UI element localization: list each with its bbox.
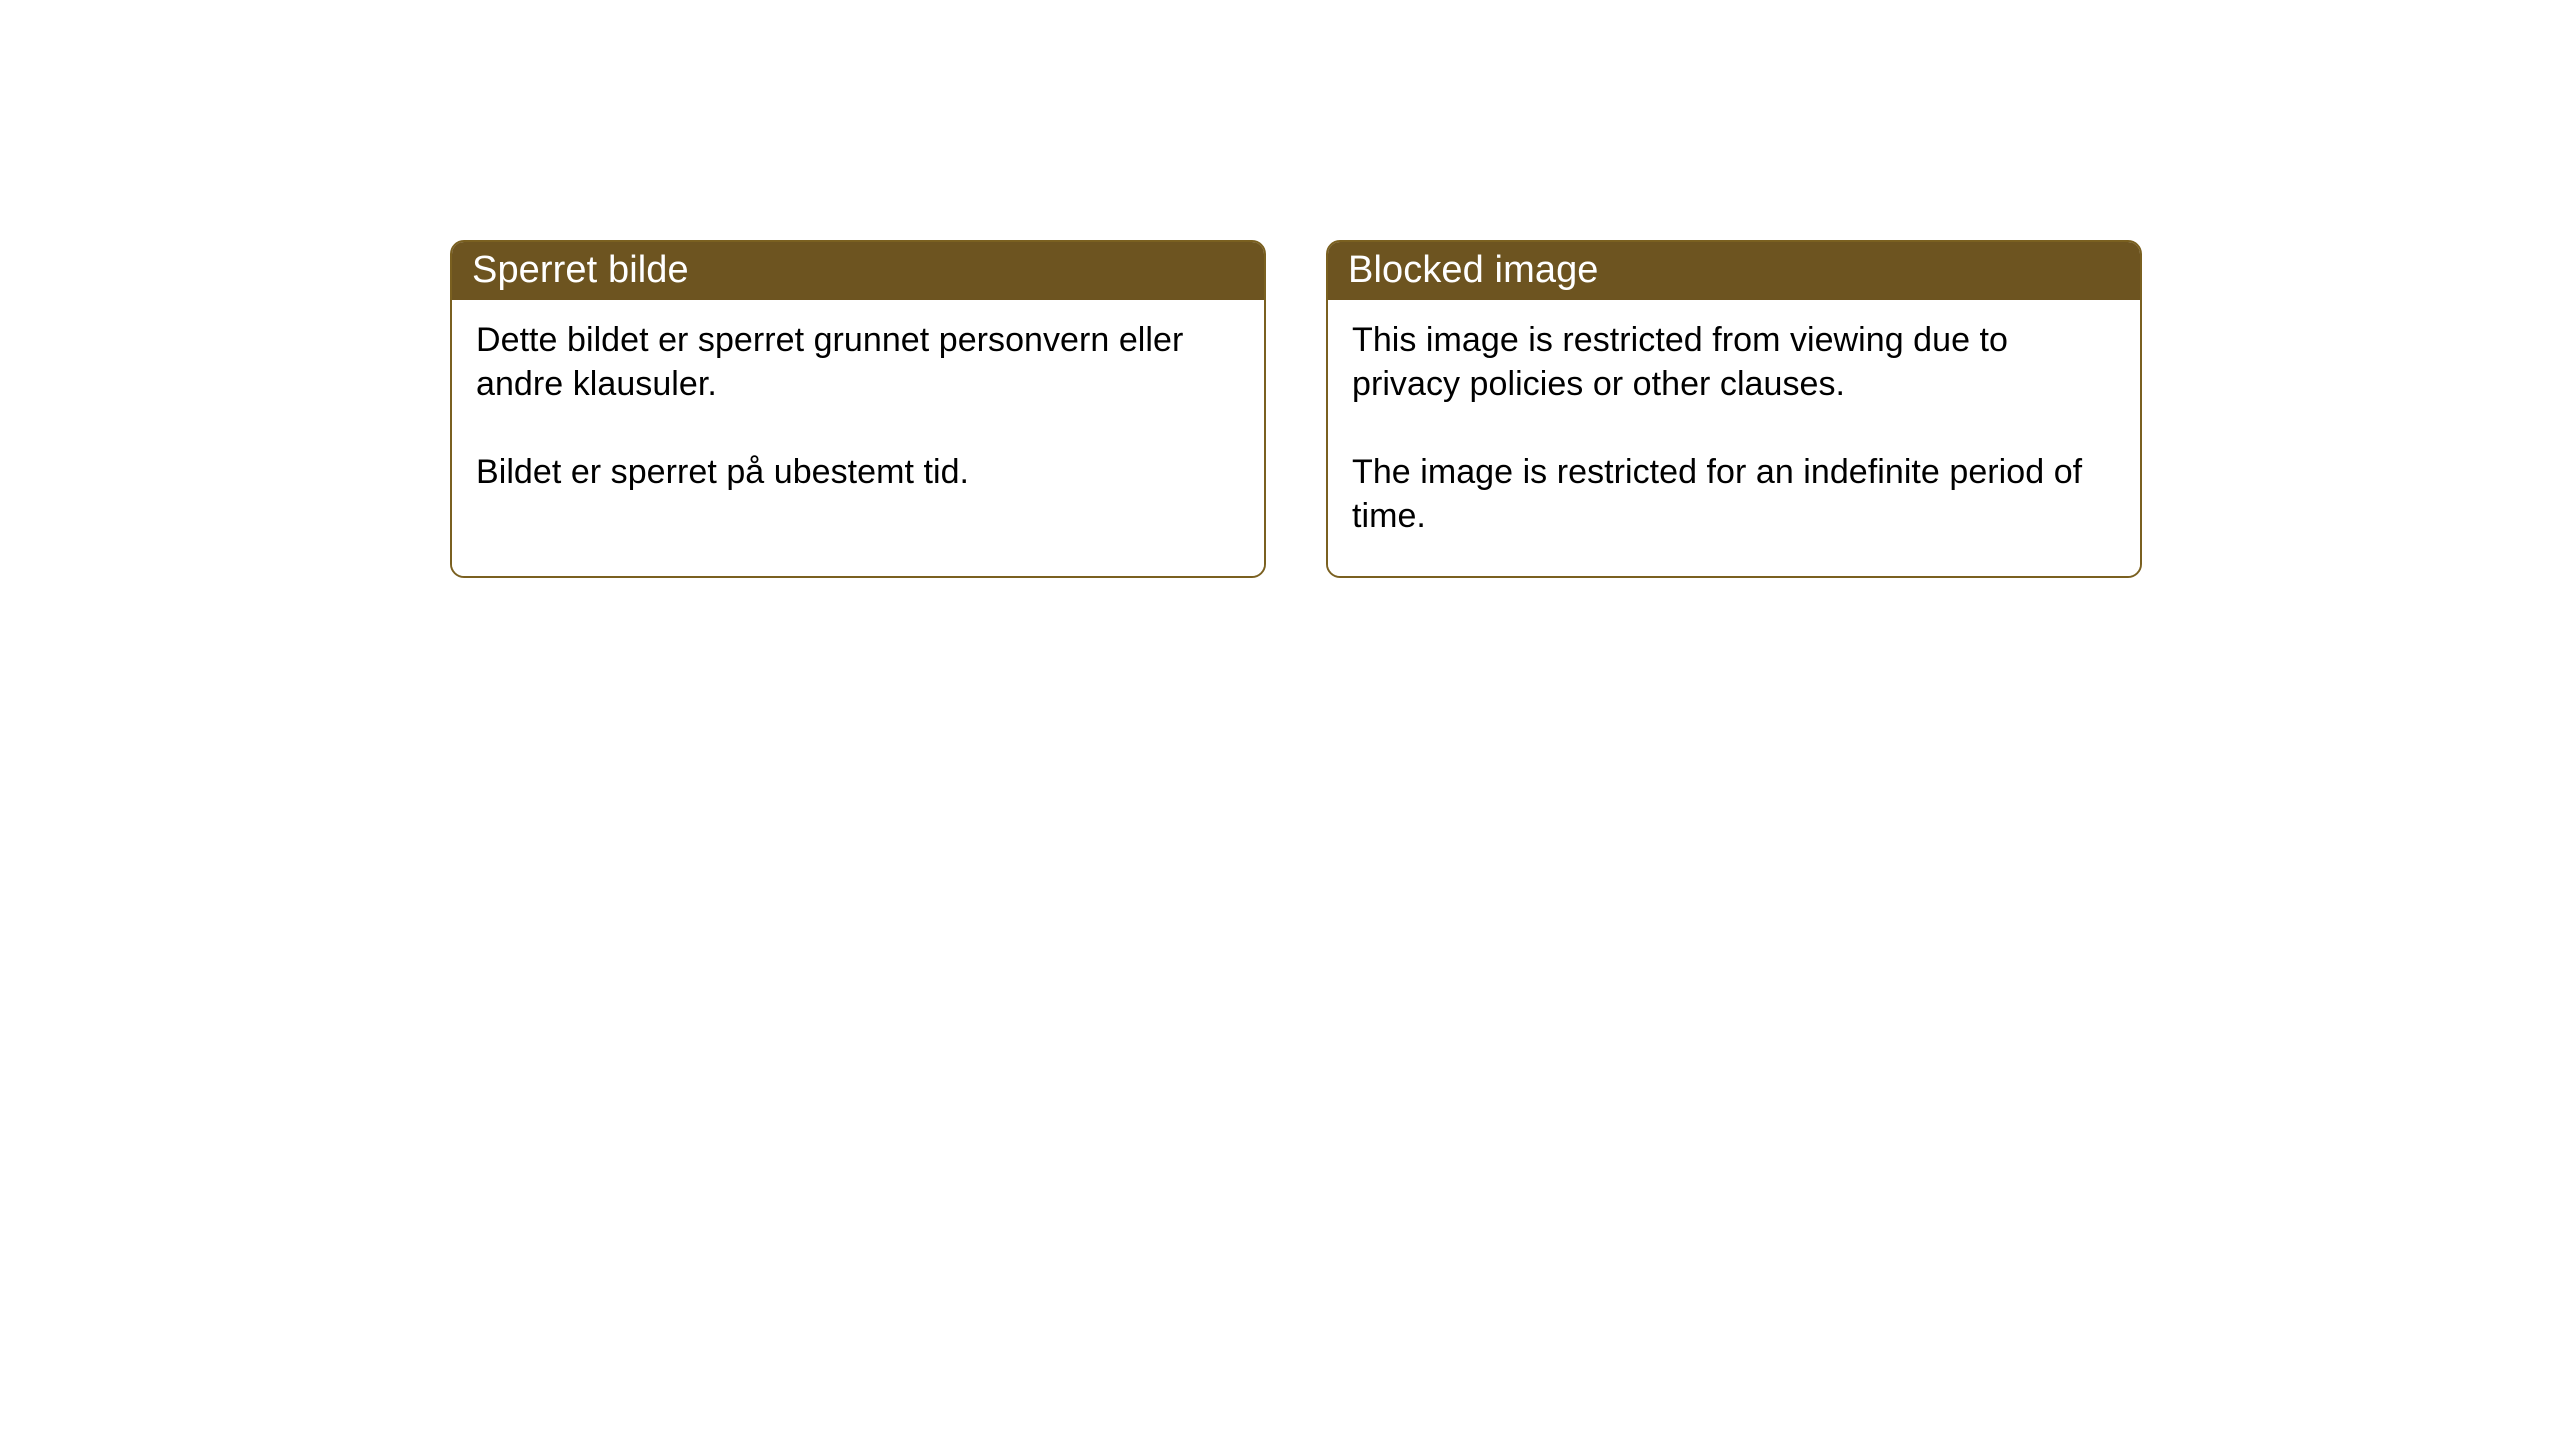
card-header-no: Sperret bilde [450,240,1266,300]
blocked-image-notice-group: Sperret bilde Dette bildet er sperret gr… [450,240,2142,578]
card-title-en: Blocked image [1348,248,1599,292]
card-header-en: Blocked image [1326,240,2142,300]
card-paragraph-en-2: The image is restricted for an indefinit… [1352,450,2116,538]
blocked-image-card-en: Blocked image This image is restricted f… [1326,240,2142,578]
card-paragraph-no-2: Bildet er sperret på ubestemt tid. [476,450,1240,494]
card-paragraph-en-1: This image is restricted from viewing du… [1352,318,2116,406]
card-body-en: This image is restricted from viewing du… [1328,300,2140,576]
card-title-no: Sperret bilde [472,248,689,292]
card-body-no: Dette bildet er sperret grunnet personve… [452,300,1264,576]
blocked-image-card-no: Sperret bilde Dette bildet er sperret gr… [450,240,1266,578]
card-paragraph-no-1: Dette bildet er sperret grunnet personve… [476,318,1240,406]
